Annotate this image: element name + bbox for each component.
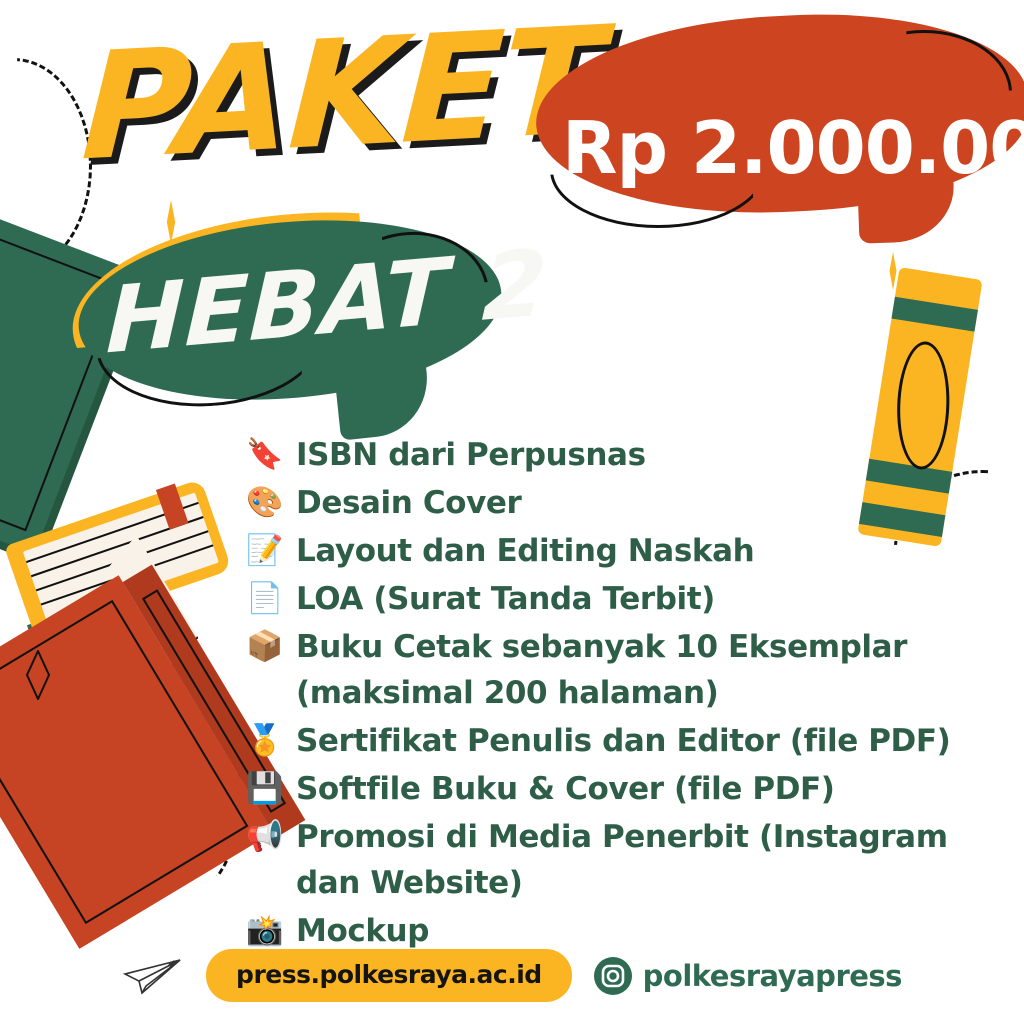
list-item: 🎨 Desain Cover	[246, 480, 1024, 526]
list-item-label: ISBN dari Perpusnas	[296, 432, 646, 478]
website-pill[interactable]: press.polkesraya.ac.id	[206, 949, 572, 1002]
bookmark-icon: 🔖	[246, 432, 284, 478]
poster-canvas: PAKET HEBAT 2 Rp 2.000.000 🔖 ISBN dari P…	[0, 0, 1024, 1024]
feature-list: 🔖 ISBN dari Perpusnas 🎨 Desain Cover 📝 L…	[246, 432, 1024, 956]
memo-icon: 📝	[246, 528, 284, 574]
list-item-label: Layout dan Editing Naskah	[296, 528, 754, 574]
instagram-handle: polkesrayapress	[643, 959, 902, 993]
red-book-cover	[0, 575, 273, 949]
list-item: 💾 Softfile Buku & Cover (file PDF)	[246, 766, 1024, 812]
footer-bar: press.polkesraya.ac.id polkesrayapress	[0, 949, 1024, 1002]
list-item-label: Buku Cetak sebanyak 10 Eksemplar (maksim…	[296, 624, 907, 716]
package-icon: 📦	[246, 624, 284, 670]
instagram-icon	[594, 957, 632, 995]
crayon-band-top	[892, 297, 978, 332]
red-book-page-edges	[106, 535, 198, 673]
list-item-label: Softfile Buku & Cover (file PDF)	[296, 766, 835, 812]
yellow-book-cover	[4, 479, 232, 637]
page-title: PAKET	[79, 7, 605, 182]
list-item: 🔖 ISBN dari Perpusnas	[246, 432, 1024, 478]
list-item: 📸 Mockup	[246, 908, 1024, 954]
list-item-label: LOA (Surat Tanda Terbit)	[296, 576, 715, 622]
red-book-illustration	[0, 575, 273, 949]
diamond-outline-icon	[24, 650, 52, 700]
document-icon: 📄	[246, 576, 284, 622]
yellow-book-pages	[23, 492, 219, 621]
paper-plane-icon	[122, 956, 184, 996]
floppy-disk-icon: 💾	[246, 766, 284, 812]
instagram-link[interactable]: polkesrayapress	[594, 957, 902, 995]
list-item: 📝 Layout dan Editing Naskah	[246, 528, 1024, 574]
list-item: 📦 Buku Cetak sebanyak 10 Eksemplar (maks…	[246, 624, 1024, 716]
loudspeaker-icon: 📢	[246, 814, 284, 860]
list-item-label: Desain Cover	[296, 480, 521, 526]
palette-icon: 🎨	[246, 480, 284, 526]
camera-flash-icon: 📸	[246, 908, 284, 954]
subtitle-speech-bubble: HEBAT 2	[78, 222, 508, 418]
list-item-label: Sertifikat Penulis dan Editor (file PDF)	[296, 718, 950, 764]
list-item-label: Mockup	[296, 908, 429, 954]
price-text: Rp 2.000.000	[562, 112, 1024, 184]
yellow-book-spine	[27, 589, 139, 649]
medal-icon: 🏅	[246, 718, 284, 764]
sparkle-icon	[882, 252, 904, 290]
list-item: 📄 LOA (Surat Tanda Terbit)	[246, 576, 1024, 622]
dashed-arc-bottom-left-icon	[96, 690, 242, 906]
list-item: 🏅 Sertifikat Penulis dan Editor (file PD…	[246, 718, 1024, 764]
list-item: 📢 Promosi di Media Penerbit (Instagram d…	[246, 814, 1024, 906]
price-speech-bubble: Rp 2.000.000	[536, 16, 1024, 228]
yellow-book-bookmark	[156, 483, 189, 529]
yellow-book-illustration	[4, 479, 232, 637]
list-item-label: Promosi di Media Penerbit (Instagram dan…	[296, 814, 948, 906]
